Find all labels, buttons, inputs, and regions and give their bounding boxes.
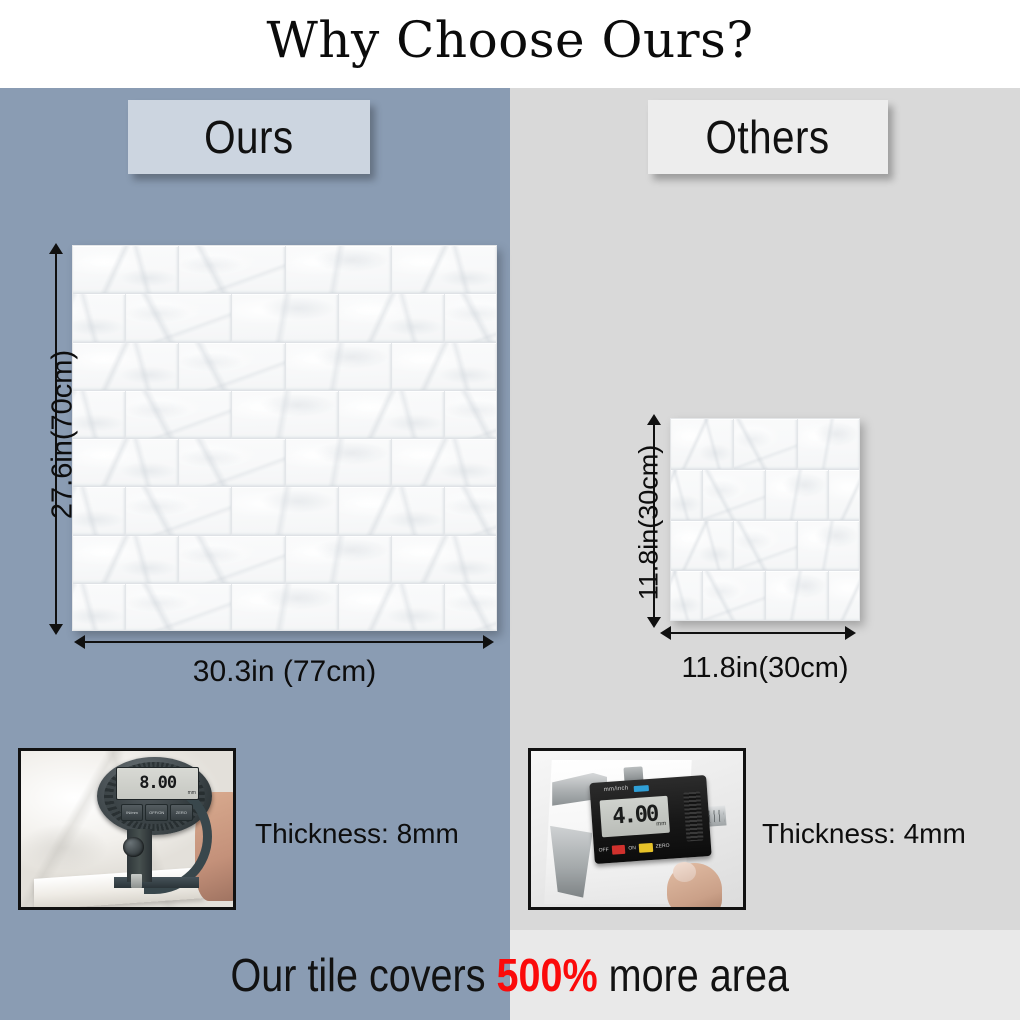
brick — [829, 470, 860, 521]
label-chip-others: Others — [648, 100, 888, 174]
brick — [445, 584, 497, 631]
chip-ours-label: Ours — [204, 110, 293, 164]
gauge-unit: mm — [188, 790, 196, 796]
thickness-label-ours: Thickness: 8mm — [255, 818, 459, 850]
brick — [798, 419, 860, 470]
brick — [671, 419, 734, 470]
caliper-button-row: OFF ON ZERO — [599, 838, 686, 857]
brick — [73, 246, 179, 294]
chip-others-label: Others — [706, 110, 830, 164]
brick-row — [671, 521, 860, 572]
banner-message: Our tile covers 500% more area — [0, 930, 1020, 1020]
gauge-lcd-display: 8.00 mm — [116, 767, 199, 800]
caliper-grip-ridges — [684, 792, 704, 842]
gauge-measuring-tip — [131, 874, 142, 888]
brick — [703, 470, 766, 521]
brick — [445, 487, 497, 535]
brick-row — [72, 487, 497, 535]
gauge-button-zero: ZERO — [170, 804, 193, 821]
gauge-button-offon: OFF/ON — [145, 804, 168, 821]
brick — [179, 536, 285, 584]
brick — [126, 294, 232, 342]
infographic-root: Why Choose Ours? Ours Others 27.6in(70cm… — [0, 0, 1020, 1020]
brick — [126, 584, 232, 631]
brick — [179, 246, 285, 294]
dimension-arrow-horizontal-ours — [84, 641, 484, 643]
brick — [670, 470, 703, 521]
title-bar: Why Choose Ours? — [0, 0, 1020, 88]
gauge-button-row: IN/mm OFF/ON ZERO — [121, 804, 193, 821]
bottom-banner: Our tile covers 500% more area — [0, 930, 1020, 1020]
caliper-lcd-display: 4.00 mm — [600, 796, 670, 838]
gauge-knob — [123, 837, 144, 857]
brick — [179, 343, 285, 391]
photo-thickness-gauge-ours: 8.00 mm IN/mm OFF/ON ZERO — [18, 748, 236, 910]
brick — [392, 439, 497, 487]
brick-row — [73, 536, 497, 584]
brick — [670, 571, 703, 621]
brick — [339, 391, 445, 439]
caliper-brand-text: mm/inch — [604, 785, 629, 793]
photo-caliper-others: mm/inch 4.00 mm OFF ON ZERO — [528, 748, 746, 910]
brick — [392, 246, 497, 294]
brick — [339, 487, 445, 535]
gauge-reading: 8.00 — [139, 775, 176, 792]
dimension-label-width-ours: 30.3in (77cm) — [72, 655, 497, 689]
dimension-arrow-horizontal-others — [670, 632, 846, 634]
dimension-label-height-others: 11.8in(30cm) — [634, 398, 665, 648]
brick — [232, 487, 338, 535]
brick — [734, 419, 797, 470]
brick — [73, 343, 179, 391]
brick — [829, 571, 860, 621]
brick-row — [73, 343, 497, 391]
brick — [73, 439, 179, 487]
page-title: Why Choose Ours? — [0, 8, 1020, 72]
brick-row — [670, 571, 860, 621]
brick — [392, 536, 497, 584]
brick — [126, 391, 232, 439]
brick-row — [72, 294, 497, 342]
brick — [703, 571, 766, 621]
caliper-brand-badge — [634, 785, 650, 793]
brick-tile-ours — [72, 245, 497, 631]
label-chip-ours: Ours — [128, 100, 370, 174]
brick — [445, 391, 497, 439]
brick-row — [73, 246, 497, 294]
brick — [445, 294, 497, 342]
caliper-button-zero-key — [639, 843, 653, 853]
caliper-button-zero: ZERO — [656, 843, 670, 850]
brick — [232, 294, 338, 342]
brick-row — [670, 470, 860, 521]
brick — [72, 584, 126, 631]
thickness-label-others: Thickness: 4mm — [762, 818, 966, 850]
brick-tile-others — [670, 418, 860, 621]
brick — [286, 246, 392, 294]
caliper-body: mm/inch 4.00 mm OFF ON ZERO — [590, 775, 712, 864]
brick — [286, 343, 392, 391]
brick-row — [72, 584, 497, 631]
caliper-button-off: OFF — [599, 847, 609, 854]
brick — [392, 343, 497, 391]
caliper-unit: mm — [657, 821, 667, 828]
brick-row — [73, 439, 497, 487]
brick — [179, 439, 285, 487]
dimension-label-width-others: 11.8in(30cm) — [640, 652, 890, 685]
brick — [126, 487, 232, 535]
brick — [286, 536, 392, 584]
brick-row — [671, 419, 860, 470]
banner-suffix: more area — [598, 949, 789, 1001]
brick — [232, 391, 338, 439]
banner-highlight: 500% — [497, 949, 598, 1001]
brick — [72, 487, 126, 535]
brick — [766, 470, 829, 521]
gauge-button-inmm: IN/mm — [121, 804, 144, 821]
caliper-reading: 4.00 — [612, 804, 658, 829]
brick — [766, 571, 829, 621]
brick — [339, 294, 445, 342]
dimension-label-height-ours: 27.6in(70cm) — [47, 310, 80, 560]
brick — [72, 294, 126, 342]
brick — [339, 584, 445, 631]
banner-prefix: Our tile covers — [231, 949, 497, 1001]
brick — [671, 521, 734, 572]
caliper-button-off-key — [612, 845, 626, 855]
brick — [286, 439, 392, 487]
brick — [72, 391, 126, 439]
brick — [798, 521, 860, 572]
brick — [73, 536, 179, 584]
brick-row — [72, 391, 497, 439]
caliper-button-on: ON — [629, 845, 637, 852]
brick — [232, 584, 338, 631]
brick — [734, 521, 797, 572]
